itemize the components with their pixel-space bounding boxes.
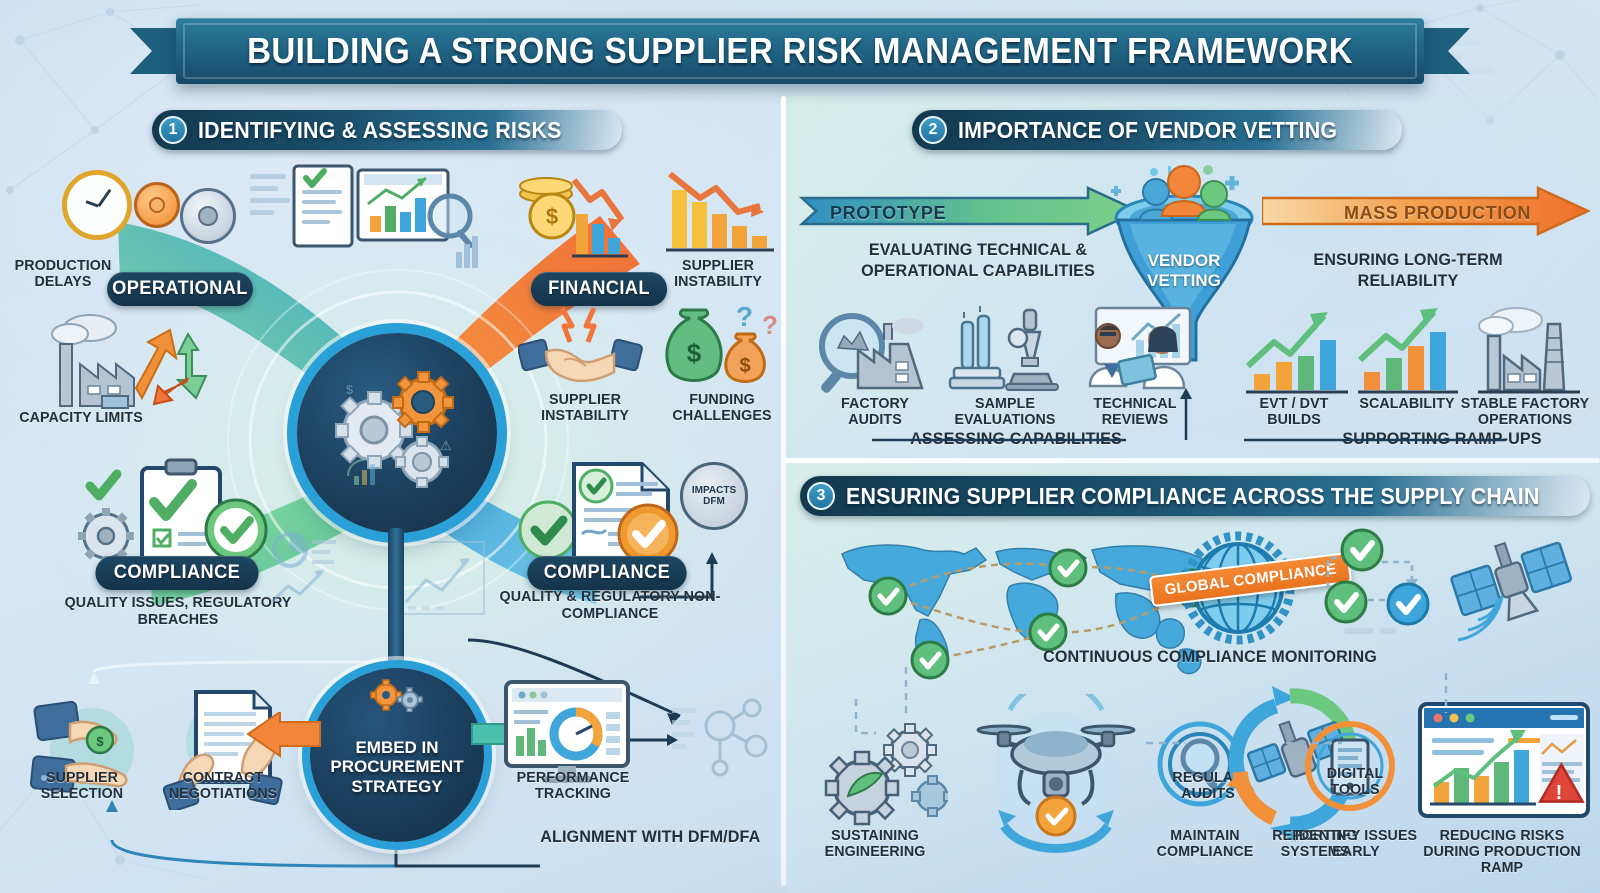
section2-connectors	[786, 96, 1600, 458]
factory-capacity-icon	[36, 310, 266, 420]
label-supplier-instability-bottom: SUPPLIER INSTABILITY	[519, 392, 650, 424]
svg-text:$: $	[546, 204, 558, 229]
label-alignment-dfm-dfa: ALIGNMENT WITH DFM/DFA	[540, 828, 778, 846]
compliance-clipboard-icon	[74, 458, 284, 568]
declining-bars-icon	[656, 168, 784, 268]
handshake-icon	[518, 300, 646, 386]
pill-compliance-right: COMPLIANCE	[527, 556, 686, 590]
svg-text:$: $	[739, 355, 750, 377]
infographic-canvas: BUILDING A STRONG SUPPLIER RISK MANAGEME…	[0, 0, 1600, 893]
central-risk-hub: $ ⚠	[297, 333, 497, 533]
label-capacity-limits: CAPACITY LIMITS	[10, 410, 153, 426]
pill-operational: OPERATIONAL	[107, 272, 253, 306]
svg-text:?: ?	[762, 310, 778, 340]
label-performance-tracking: PERFORMANCE TRACKING	[502, 770, 645, 802]
label-production-delays: PRODUCTION DELAYS	[7, 258, 119, 290]
svg-text:$: $	[687, 338, 702, 368]
gear-icon-grey	[180, 188, 236, 244]
gear-icon-orange	[134, 182, 180, 228]
analytics-dashboard-icon	[250, 160, 490, 290]
svg-text:⚠: ⚠	[440, 438, 452, 453]
svg-text:$: $	[96, 734, 104, 749]
impacts-dfm-gear-icon: IMPACTS DFM	[680, 462, 748, 530]
label-impacts-dfm-1: IMPACTS	[692, 485, 736, 496]
label-supplier-selection: SUPPLIER SELECTION	[16, 770, 149, 802]
dfm-node-deco	[668, 684, 778, 794]
svg-text:?: ?	[736, 301, 753, 332]
pill-compliance-left: COMPLIANCE	[95, 556, 258, 590]
mini-chart-deco-center	[396, 540, 486, 620]
label-funding-challenges: FUNDING CHALLENGES	[661, 392, 783, 424]
clock-icon	[62, 170, 132, 240]
label-contract-negotiations: CONTRACT NEGOTIATIONS	[152, 770, 295, 802]
section3-connectors	[786, 463, 1600, 893]
funding-challenges-icon: $ $ ? ?	[660, 300, 786, 390]
mini-chart-deco-left	[268, 528, 338, 608]
label-compliance-sub-right: QUALITY & REGULATORY NON-COMPLIANCE	[492, 588, 728, 623]
embed-hub-label: EMBED IN PROCUREMENT STRATEGY	[328, 738, 466, 797]
label-supplier-instability-top: SUPPLIER INSTABILITY	[652, 258, 785, 290]
arrow-to-contract	[242, 712, 324, 762]
svg-text:$: $	[346, 382, 354, 397]
magnifier-handle	[388, 528, 404, 678]
label-impacts-dfm-2: DFM	[703, 496, 725, 507]
embed-hub-gears-icon	[369, 678, 425, 712]
embed-procurement-strategy-hub: EMBED IN PROCUREMENT STRATEGY	[310, 668, 484, 842]
coins-bars-icon: $	[516, 168, 636, 278]
hub-gears-icon: $ ⚠	[322, 358, 472, 508]
